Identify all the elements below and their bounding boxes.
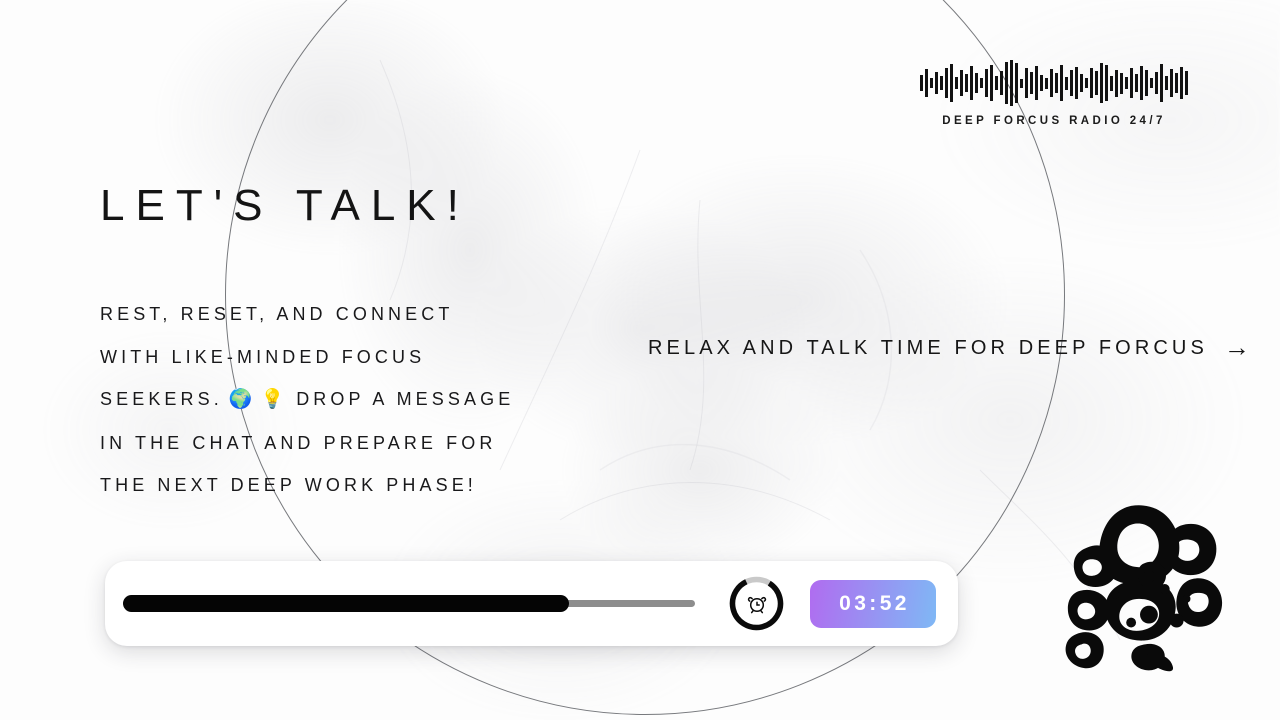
waveform-bar [1060, 65, 1063, 101]
deep-forcus-radio-screen: DEEP FORCUS RADIO 24/7 LET'S TALK! REST,… [0, 0, 1280, 720]
body-line-5: THE NEXT DEEP WORK PHASE! [100, 464, 570, 507]
waveform-bar [1160, 64, 1163, 102]
body-line-3: SEEKERS.🌍💡DROP A MESSAGE [100, 378, 570, 422]
waveform-bar [945, 68, 948, 98]
waveform-bar [1065, 77, 1068, 90]
waveform-bar [955, 77, 958, 89]
waveform-bar [1005, 62, 1008, 104]
tagline-text: RELAX AND TALK TIME FOR DEEP FORCUS [648, 337, 1208, 360]
waveform-bar [975, 73, 978, 93]
body-line-2: WITH LIKE-MINDED FOCUS [100, 336, 570, 379]
body-line-4: IN THE CHAT AND PREPARE FOR [100, 422, 570, 465]
waveform-bar [960, 70, 963, 96]
body-line-3-pre: SEEKERS. [100, 389, 223, 409]
waveform-bar [1020, 79, 1023, 88]
waveform-bar [1105, 65, 1108, 101]
ornament-svg [1054, 496, 1232, 672]
body-line-1: REST, RESET, AND CONNECT [100, 293, 570, 336]
progress-fill [123, 595, 569, 612]
waveform-bar [1015, 63, 1018, 103]
waveform-bar [1150, 78, 1153, 88]
waveform-bar [1140, 66, 1143, 100]
waveform-bar [950, 64, 953, 102]
globe-icon: 🌍 [229, 389, 255, 410]
waveform-bar [985, 69, 988, 97]
waveform-bar [1090, 68, 1093, 98]
brand-logo: DEEP FORCUS RADIO 24/7 [920, 60, 1188, 127]
waveform-bar [1010, 60, 1013, 106]
waveform-bar [935, 72, 938, 94]
waveform-bar [1145, 70, 1148, 96]
timer-progress-ring[interactable] [728, 575, 785, 632]
waveform-bar [925, 69, 928, 97]
waveform-bar [1080, 74, 1083, 92]
waveform-bar [1180, 67, 1183, 99]
waveform-bar [1025, 68, 1028, 98]
waveform-bar [970, 66, 973, 100]
waveform-bar [1115, 70, 1118, 97]
waveform-bar [1000, 71, 1003, 95]
waveform-bar [995, 76, 998, 90]
lightbulb-icon: 💡 [261, 389, 287, 410]
waveform-bar [1030, 72, 1033, 94]
waveform-bar [1125, 77, 1128, 89]
waveform-bar [920, 75, 923, 91]
waveform-bar [1085, 78, 1088, 88]
waveform-bar [1070, 70, 1073, 96]
time-remaining-badge[interactable]: 03:52 [810, 580, 936, 628]
body-line-3-post: DROP A MESSAGE [296, 389, 514, 409]
brand-name: DEEP FORCUS RADIO 24/7 [942, 115, 1166, 127]
progress-slider[interactable] [123, 594, 695, 614]
waveform-bar [1045, 78, 1048, 89]
tagline[interactable]: RELAX AND TALK TIME FOR DEEP FORCUS → [648, 335, 1250, 361]
audio-waveform-icon [920, 60, 1188, 106]
waveform-bar [1155, 72, 1158, 94]
waveform-bar [1110, 76, 1113, 91]
waveform-bar [1095, 71, 1098, 95]
waveform-bar [1050, 69, 1053, 97]
waveform-bar [1165, 76, 1168, 90]
waveform-bar [980, 78, 983, 88]
waveform-bar [1185, 71, 1188, 95]
arrow-right-icon: → [1224, 334, 1250, 360]
alarm-clock-icon [728, 575, 785, 632]
waveform-bar [1035, 66, 1038, 100]
audio-player-card: 03:52 [105, 561, 958, 646]
waveform-bar [1040, 75, 1043, 91]
waveform-bar [1100, 63, 1103, 103]
page-title: LET'S TALK! [100, 181, 470, 231]
waveform-bar [1130, 68, 1133, 98]
waveform-bar [990, 65, 993, 101]
waveform-bar [1170, 69, 1173, 97]
waveform-bar [940, 76, 943, 90]
body-copy: REST, RESET, AND CONNECT WITH LIKE-MINDE… [100, 293, 570, 507]
waveform-bar [930, 78, 933, 88]
waveform-bar [1135, 74, 1138, 92]
waveform-bar [1175, 73, 1178, 93]
waveform-bar [1120, 73, 1123, 94]
waveform-bar [965, 74, 968, 92]
abstract-bubbles-ornament [1054, 496, 1232, 672]
waveform-bar [1055, 73, 1058, 93]
waveform-bar [1075, 67, 1078, 99]
